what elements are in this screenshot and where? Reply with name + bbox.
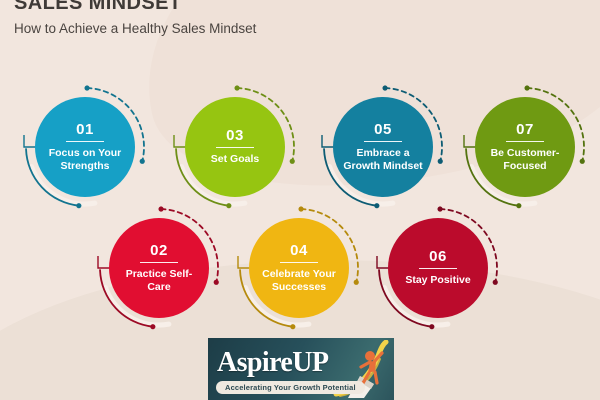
dashed-arc-start-dot	[382, 85, 387, 90]
step-label: Practice Self-Care	[109, 268, 209, 293]
solid-arc-end-dot	[290, 324, 295, 329]
step-divider-rule	[364, 141, 402, 142]
dashed-arc-end-dot	[438, 159, 443, 164]
infographic-canvas: SALES MINDSET How to Achieve a Healthy S…	[0, 0, 600, 400]
page-title: SALES MINDSET	[14, 0, 256, 14]
step-divider-rule	[140, 262, 178, 263]
dashed-arc-start-dot	[298, 206, 303, 211]
logo-wordmark: AspireUP	[217, 348, 328, 378]
logo-tagline: Accelerating Your Growth Potential	[225, 383, 356, 392]
dashed-arc-start-dot	[524, 85, 529, 90]
header: SALES MINDSET How to Achieve a Healthy S…	[14, 0, 256, 37]
dashed-arc-end-dot	[214, 280, 219, 285]
step-label: Embrace a Growth Mindset	[333, 147, 433, 172]
step-number: 02	[150, 243, 168, 258]
step-divider-rule	[280, 262, 318, 263]
dashed-arc-end-dot	[290, 159, 295, 164]
brand-logo: AspireUP Accelerating Your Growth Potent…	[208, 338, 394, 400]
dashed-arc-end-dot	[354, 280, 359, 285]
step-circle-07[interactable]: 07Be Customer-Focused	[462, 84, 588, 210]
step-number: 03	[226, 128, 244, 143]
solid-arc-end-dot	[226, 203, 231, 208]
dashed-arc-start-dot	[158, 206, 163, 211]
step-divider-rule	[66, 141, 104, 142]
step-label: Focus on Your Strengths	[35, 147, 135, 172]
step-number: 06	[429, 249, 447, 264]
logo-tagline-pill: Accelerating Your Growth Potential	[216, 381, 365, 395]
step-circle-01[interactable]: 01Focus on Your Strengths	[22, 84, 148, 210]
step-circle-06[interactable]: 06Stay Positive	[375, 205, 501, 331]
step-circle-05[interactable]: 05Embrace a Growth Mindset	[320, 84, 446, 210]
step-number: 01	[76, 122, 94, 137]
step-label: Be Customer-Focused	[475, 147, 575, 172]
solid-arc-end-dot	[516, 203, 521, 208]
dashed-arc-end-dot	[140, 159, 145, 164]
solid-arc-end-dot	[76, 203, 81, 208]
step-disc-06[interactable]: 06Stay Positive	[388, 218, 488, 318]
dashed-arc-end-dot	[580, 159, 585, 164]
page-subtitle: How to Achieve a Healthy Sales Mindset	[14, 21, 256, 37]
solid-arc-end-dot	[429, 324, 434, 329]
step-label: Set Goals	[205, 153, 265, 166]
step-circle-04[interactable]: 04Celebrate Your Successes	[236, 205, 362, 331]
step-number: 05	[374, 122, 392, 137]
step-disc-02[interactable]: 02Practice Self-Care	[109, 218, 209, 318]
step-divider-rule	[506, 141, 544, 142]
step-disc-03[interactable]: 03Set Goals	[185, 97, 285, 197]
step-number: 07	[516, 122, 534, 137]
dashed-arc-start-dot	[84, 85, 89, 90]
step-divider-rule	[419, 268, 457, 269]
step-divider-rule	[216, 147, 254, 148]
step-disc-07[interactable]: 07Be Customer-Focused	[475, 97, 575, 197]
step-disc-04[interactable]: 04Celebrate Your Successes	[249, 218, 349, 318]
dashed-arc-end-dot	[493, 280, 498, 285]
step-label: Stay Positive	[399, 274, 476, 287]
solid-arc-end-dot	[150, 324, 155, 329]
step-circle-02[interactable]: 02Practice Self-Care	[96, 205, 222, 331]
step-number: 04	[290, 243, 308, 258]
dashed-arc-start-dot	[437, 206, 442, 211]
step-disc-01[interactable]: 01Focus on Your Strengths	[35, 97, 135, 197]
step-label: Celebrate Your Successes	[249, 268, 349, 293]
step-circle-03[interactable]: 03Set Goals	[172, 84, 298, 210]
step-disc-05[interactable]: 05Embrace a Growth Mindset	[333, 97, 433, 197]
dashed-arc-start-dot	[234, 85, 239, 90]
